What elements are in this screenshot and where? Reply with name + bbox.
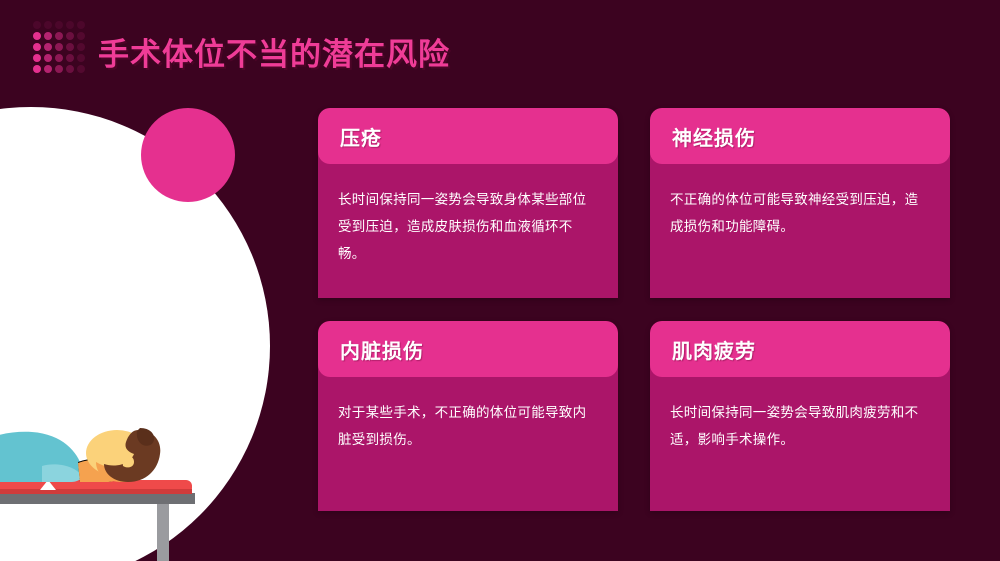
risk-card-header: 内脏损伤: [318, 321, 618, 377]
risk-card-header: 肌肉疲劳: [650, 321, 950, 377]
risk-card-body: 对于某些手术，不正确的体位可能导致内脏受到损伤。: [318, 377, 618, 453]
risk-card-title: 压疮: [340, 122, 382, 151]
risk-card[interactable]: 压疮 长时间保持同一姿势会导致身体某些部位受到压迫，造成皮肤损伤和血液循环不畅。: [318, 108, 618, 298]
page-title: 手术体位不当的潜在风险: [98, 29, 450, 74]
pink-circle-ornament: [141, 108, 235, 202]
slide-canvas: 手术体位不当的潜在风险 压疮 长时间保持同一姿势会导致身体某些部位受到压迫，造成…: [0, 0, 1000, 561]
risk-card-grid: 压疮 长时间保持同一姿势会导致身体某些部位受到压迫，造成皮肤损伤和血液循环不畅。…: [318, 108, 950, 511]
risk-card-header: 压疮: [318, 108, 618, 164]
risk-card[interactable]: 内脏损伤 对于某些手术，不正确的体位可能导致内脏受到损伤。: [318, 321, 618, 511]
risk-card-header: 神经损伤: [650, 108, 950, 164]
risk-card-title: 内脏损伤: [340, 335, 424, 364]
risk-card[interactable]: 神经损伤 不正确的体位可能导致神经受到压迫，造成损伤和功能障碍。: [650, 108, 950, 298]
risk-card-body: 长时间保持同一姿势会导致肌肉疲劳和不适，影响手术操作。: [650, 377, 950, 453]
risk-card-title: 神经损伤: [672, 122, 756, 151]
patient-on-operating-table-illustration: [0, 390, 270, 561]
risk-card-body: 不正确的体位可能导致神经受到压迫，造成损伤和功能障碍。: [650, 164, 950, 240]
risk-card-title: 肌肉疲劳: [672, 335, 756, 364]
risk-card-body: 长时间保持同一姿势会导致身体某些部位受到压迫，造成皮肤损伤和血液循环不畅。: [318, 164, 618, 267]
risk-card[interactable]: 肌肉疲劳 长时间保持同一姿势会导致肌肉疲劳和不适，影响手术操作。: [650, 321, 950, 511]
dot-grid-ornament: [33, 21, 88, 76]
